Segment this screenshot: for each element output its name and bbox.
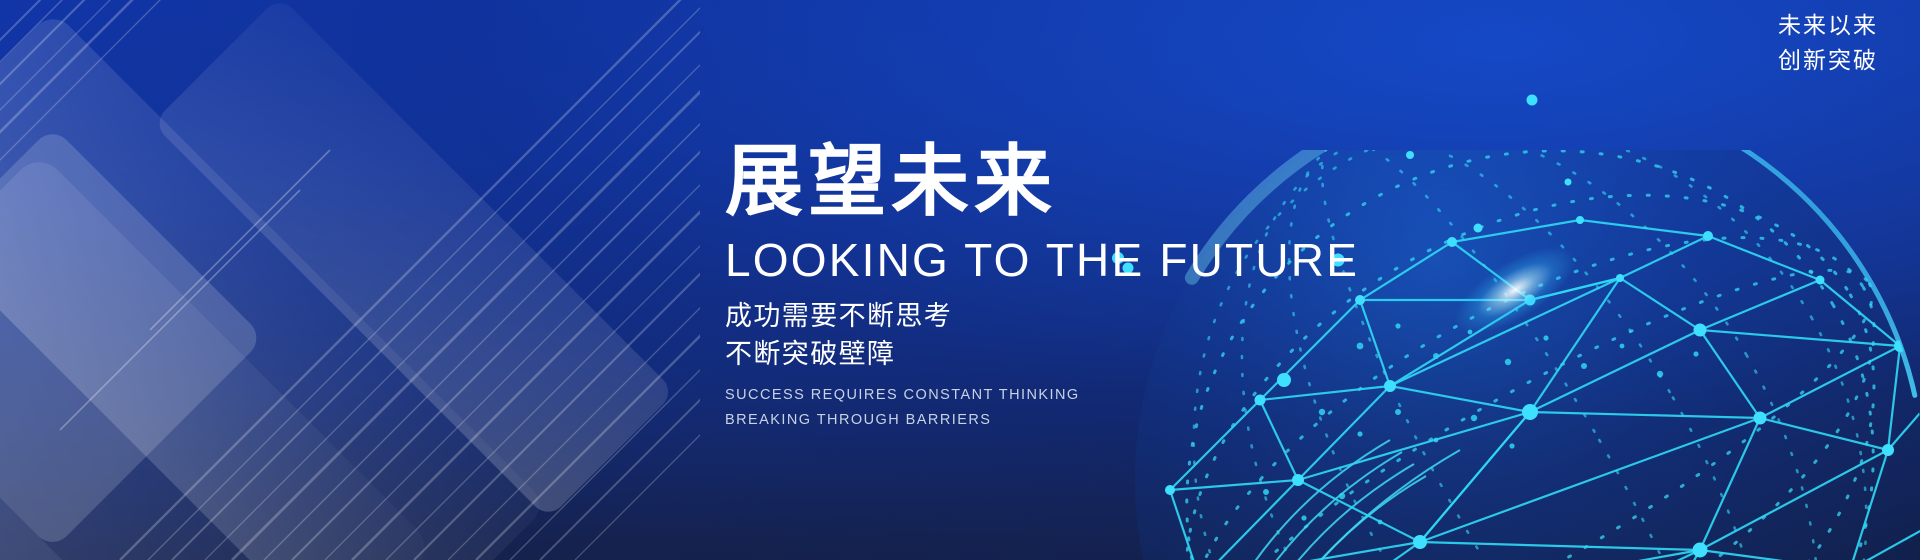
subheading-chinese: 成功需要不断思考 不断突破壁障 bbox=[725, 298, 1465, 373]
caption-english-line-2: BREAKING THROUGH BARRIERS bbox=[725, 408, 1465, 433]
copy-block: 展望未来 LOOKING TO THE FUTURE 成功需要不断思考 不断突破… bbox=[725, 142, 1465, 433]
caption-english-line-1: SUCCESS REQUIRES CONSTANT THINKING bbox=[725, 383, 1465, 408]
corner-slogan: 未来以来 创新突破 bbox=[1778, 8, 1878, 77]
left-geometric-decoration bbox=[0, 0, 700, 560]
corner-slogan-line-2: 创新突破 bbox=[1778, 43, 1878, 78]
headline-english: LOOKING TO THE FUTURE bbox=[725, 236, 1465, 284]
hero-banner: 未来以来 创新突破 展望未来 LOOKING TO THE FUTURE 成功需… bbox=[0, 0, 1920, 560]
headline-chinese: 展望未来 bbox=[725, 142, 1465, 220]
caption-english: SUCCESS REQUIRES CONSTANT THINKING BREAK… bbox=[725, 383, 1465, 433]
diagonal-geometric-pattern bbox=[0, 0, 700, 560]
corner-slogan-line-1: 未来以来 bbox=[1778, 8, 1878, 43]
subheading-chinese-line-2: 不断突破壁障 bbox=[725, 336, 1465, 373]
subheading-chinese-line-1: 成功需要不断思考 bbox=[725, 298, 1465, 335]
